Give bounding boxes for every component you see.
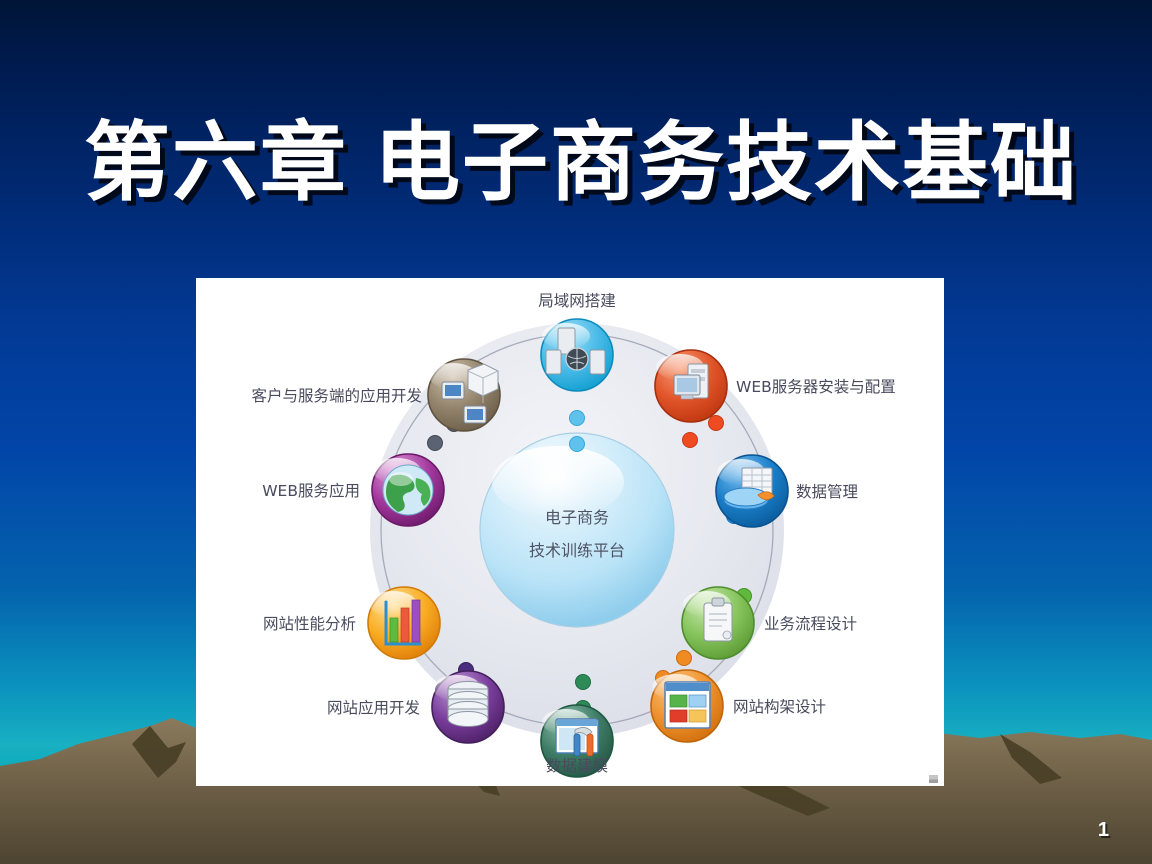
node-label-datamgmt: 数据管理: [796, 483, 858, 501]
node-bizprocess[interactable]: [682, 587, 754, 659]
ecommerce-platform-diagram: 电子商务 技术训练平台: [196, 278, 944, 786]
node-lan[interactable]: [541, 319, 613, 391]
node-sitearch[interactable]: [651, 670, 723, 742]
node-label-webserver: WEB服务器安装与配置: [736, 378, 896, 396]
node-webservice[interactable]: [372, 454, 444, 526]
image-corner-artifact: [929, 775, 938, 783]
center-label-line2: 技术训练平台: [529, 541, 625, 560]
page-title: 第六章 电子商务技术基础: [0, 118, 1152, 208]
node-label-siteperf: 网站性能分析: [263, 615, 356, 633]
node-siteperf[interactable]: [368, 587, 440, 659]
node-label-bizprocess: 业务流程设计: [764, 615, 857, 633]
database-stack-icon: [448, 682, 488, 727]
node-label-datamodel: 数据建模: [546, 757, 608, 775]
diagram-image: 电子商务 技术训练平台: [196, 278, 944, 786]
node-label-lan: 局域网搭建: [538, 292, 616, 310]
slide-canvas: 第六章 电子商务技术基础: [0, 0, 1152, 864]
node-label-webservice: WEB服务应用: [262, 481, 360, 500]
globe-icon: [383, 465, 433, 515]
node-webserver[interactable]: [655, 350, 727, 422]
layout-window-icon: [665, 682, 710, 728]
node-label-clientsrv: 客户与服务端的应用开发: [251, 386, 422, 405]
center-label-line1: 电子商务: [545, 508, 609, 527]
node-clientsrv[interactable]: [428, 359, 500, 431]
clipboard-icon: [704, 598, 732, 641]
node-label-sitearch: 网站构架设计: [733, 698, 826, 716]
center-bubble: [480, 433, 674, 627]
node-label-siteapp: 网站应用开发: [327, 698, 420, 717]
modeling-tools-icon: [556, 719, 598, 756]
node-datamgmt[interactable]: [716, 455, 788, 527]
node-siteapp[interactable]: [432, 671, 504, 743]
page-number: 1: [1098, 819, 1109, 842]
